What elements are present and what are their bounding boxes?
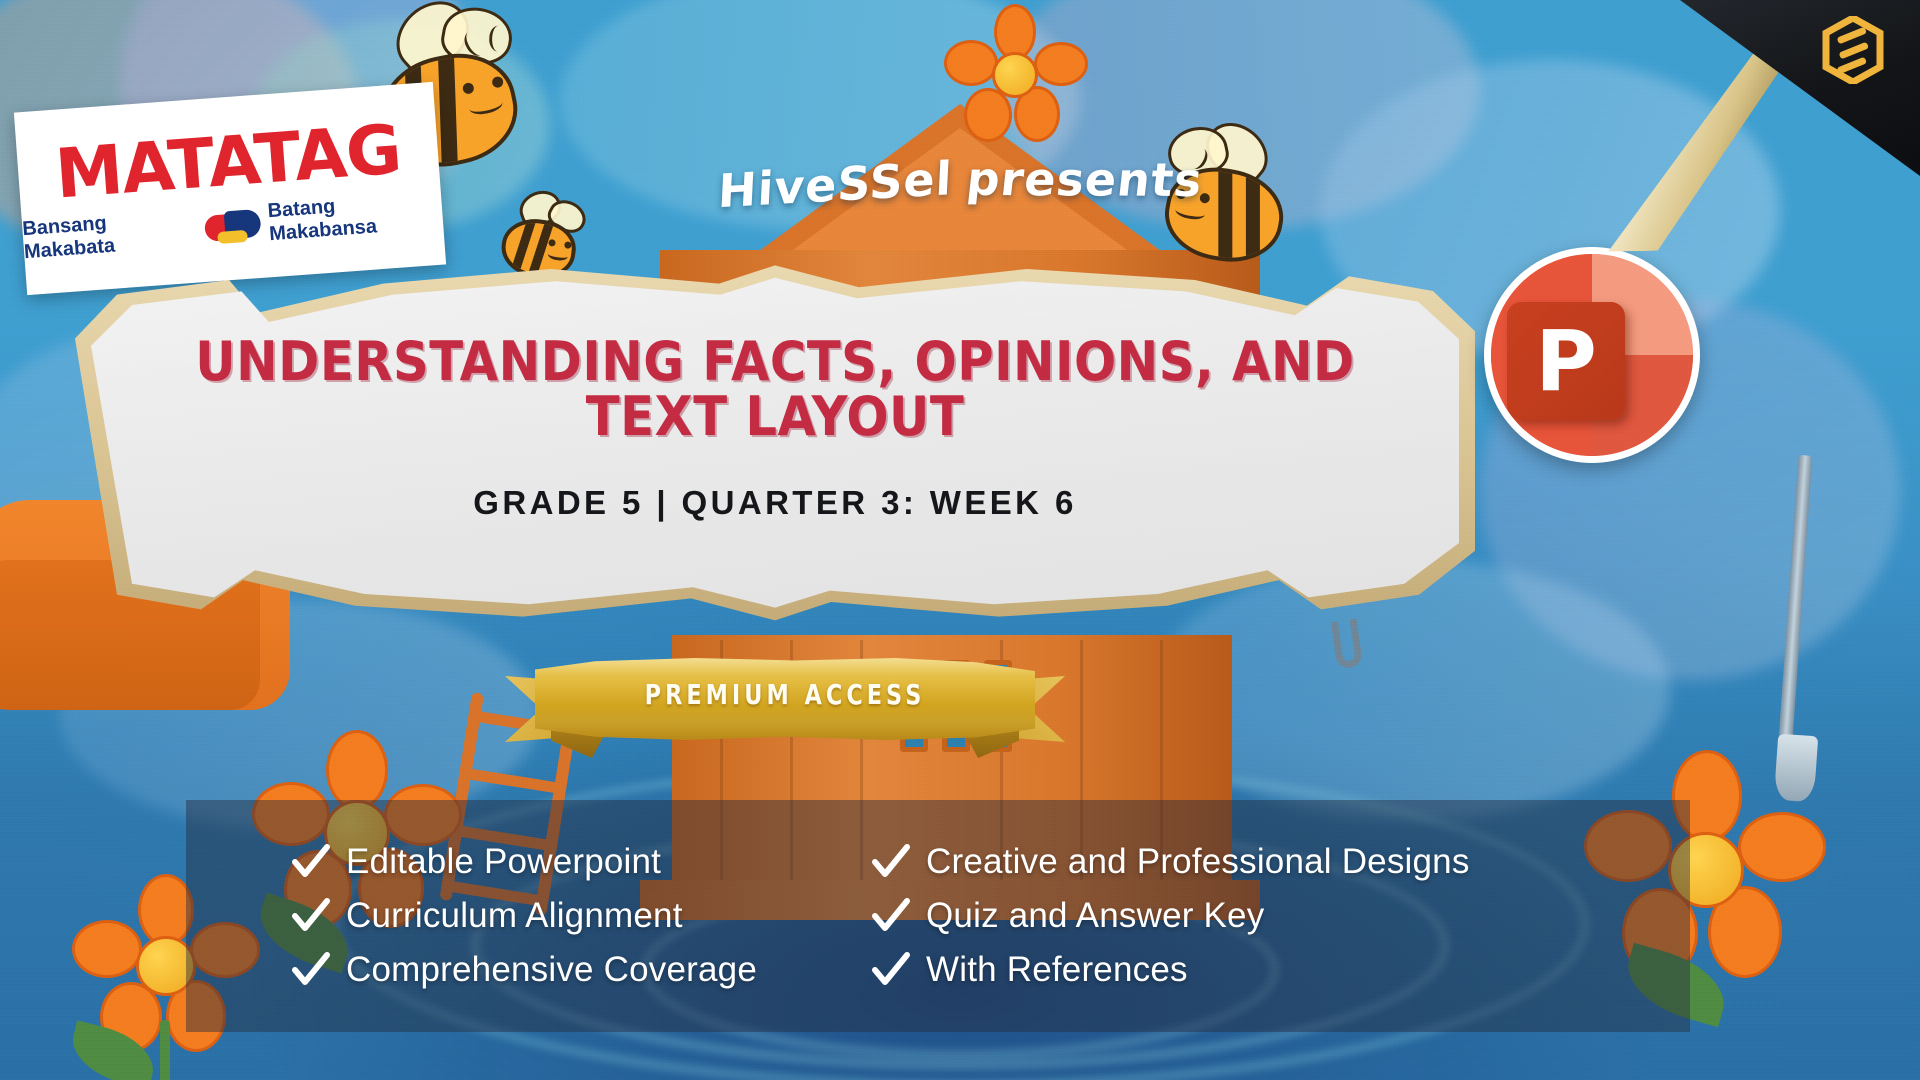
texture-overlay — [0, 0, 1920, 1080]
slide-canvas: HiveSSelpresents MATATAG Bansang Makabat… — [0, 0, 1920, 1080]
